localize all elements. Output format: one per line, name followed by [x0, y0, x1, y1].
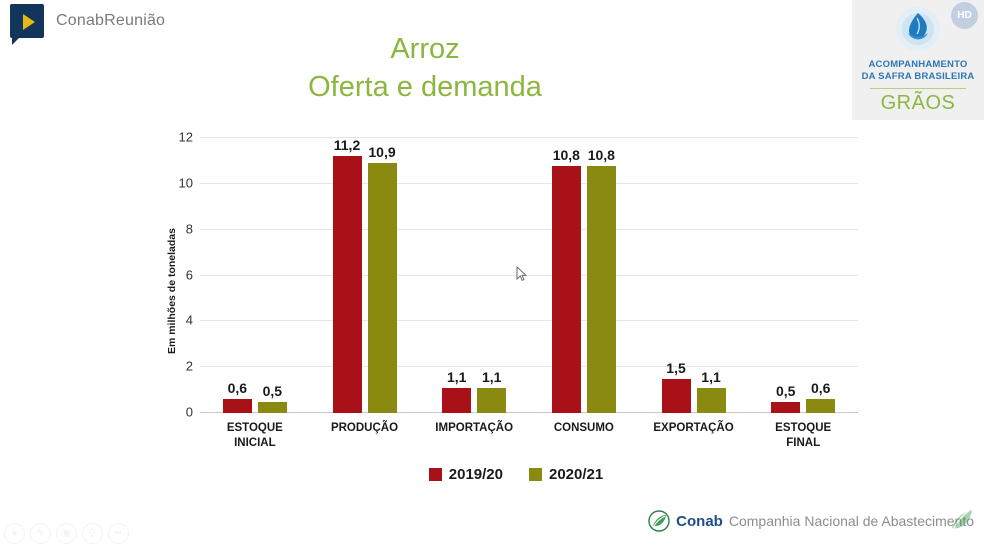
title-line-1: Arroz [0, 30, 850, 68]
logo-subtitle: GRÃOS [852, 92, 984, 115]
player-controls[interactable]: ●✎▣⚲•• [4, 523, 129, 544]
y-axis-tick-label: 6 [186, 267, 193, 282]
bar-value-label: 0,6 [228, 380, 247, 396]
bar-value-label: 0,5 [263, 383, 282, 399]
conab-leaf-drop-icon [895, 6, 941, 52]
slide-canvas: ConabReunião Arroz Oferta e demanda ACOM… [0, 0, 984, 546]
y-axis-tick-label: 4 [186, 313, 193, 328]
bar[interactable] [771, 402, 800, 413]
bar-column[interactable]: 10,8 [587, 138, 616, 413]
app-name-label: ConabReunião [56, 12, 165, 30]
bar-column[interactable]: 10,8 [552, 138, 581, 413]
slide-title: Arroz Oferta e demanda [0, 30, 850, 106]
bar[interactable] [223, 399, 252, 413]
bar[interactable] [662, 379, 691, 413]
y-axis-tick-label: 8 [186, 221, 193, 236]
logo-line-2: DA SAFRA BRASILEIRA [852, 71, 984, 83]
x-axis-category-label: ESTOQUEINICIAL [227, 421, 283, 451]
bar-column[interactable]: 11,2 [333, 138, 362, 413]
bar-group: 1,11,1IMPORTAÇÃO [419, 138, 529, 413]
bar-group: 11,210,9PRODUÇÃO [310, 138, 420, 413]
search-icon[interactable]: ⚲ [82, 523, 103, 544]
bar-value-label: 10,9 [368, 144, 395, 160]
y-axis-tick-label: 12 [179, 130, 193, 145]
y-axis-tick-label: 0 [186, 405, 193, 420]
bar-column[interactable]: 0,6 [223, 138, 252, 413]
footer-full-name: Companhia Nacional de Abastecimento [729, 513, 974, 529]
x-axis-category-label: IMPORTAÇÃO [435, 421, 513, 436]
x-axis-category-label: CONSUMO [554, 421, 614, 436]
bar-column[interactable]: 1,1 [477, 138, 506, 413]
legend-item[interactable]: 2019/20 [429, 466, 503, 483]
more-icon[interactable]: •• [108, 523, 129, 544]
bar-value-label: 0,5 [776, 383, 795, 399]
mouse-pointer-icon [516, 266, 528, 282]
camera-icon[interactable]: ▣ [56, 523, 77, 544]
bar[interactable] [333, 156, 362, 413]
plot-area: 024681012 0,60,5ESTOQUEINICIAL11,210,9PR… [200, 138, 858, 413]
bar-group: 1,51,1EXPORTAÇÃO [639, 138, 749, 413]
bar[interactable] [477, 388, 506, 413]
legend-swatch [429, 468, 442, 481]
logo-divider [870, 88, 966, 89]
mic-icon[interactable]: ● [4, 523, 25, 544]
title-line-2: Oferta e demanda [0, 68, 850, 106]
chart-legend: 2019/202020/21 [166, 466, 866, 483]
y-axis-tick-label: 10 [179, 175, 193, 190]
pen-icon[interactable]: ✎ [30, 523, 51, 544]
hd-quality-badge[interactable]: HD [951, 2, 978, 29]
bar-value-label: 1,5 [666, 360, 685, 376]
bar-value-label: 0,6 [811, 380, 830, 396]
bar-column[interactable]: 10,9 [368, 138, 397, 413]
bar-group: 0,60,5ESTOQUEINICIAL [200, 138, 310, 413]
footer-brand: Conab [676, 513, 723, 530]
logo-line-1: ACOMPANHAMENTO [852, 59, 984, 71]
x-axis-category-label: PRODUÇÃO [331, 421, 398, 436]
conab-footer: Conab Companhia Nacional de Abasteciment… [648, 510, 974, 532]
bar-groups: 0,60,5ESTOQUEINICIAL11,210,9PRODUÇÃO1,11… [200, 138, 858, 413]
bar[interactable] [368, 163, 397, 413]
bar[interactable] [587, 166, 616, 414]
conab-leaf-icon [648, 510, 670, 532]
legend-label: 2019/20 [449, 466, 503, 483]
bar-column[interactable]: 1,1 [442, 138, 471, 413]
y-axis-title: Em milhões de toneladas [166, 228, 182, 354]
bar[interactable] [697, 388, 726, 413]
bar-value-label: 11,2 [334, 137, 360, 153]
bar-group: 0,50,6ESTOQUEFINAL [748, 138, 858, 413]
bar-column[interactable]: 0,6 [806, 138, 835, 413]
legend-item[interactable]: 2020/21 [529, 466, 603, 483]
play-triangle-icon [23, 14, 35, 30]
bar-column[interactable]: 1,1 [697, 138, 726, 413]
bar[interactable] [806, 399, 835, 413]
y-axis-tick-label: 2 [186, 359, 193, 374]
bar-group: 10,810,8CONSUMO [529, 138, 639, 413]
legend-swatch [529, 468, 542, 481]
bar-chart: Em milhões de toneladas 024681012 0,60,5… [166, 128, 866, 458]
bar-value-label: 10,8 [588, 147, 615, 163]
bar[interactable] [258, 402, 287, 413]
legend-label: 2020/21 [549, 466, 603, 483]
bar[interactable] [442, 388, 471, 413]
bar-column[interactable]: 0,5 [258, 138, 287, 413]
x-axis-category-label: ESTOQUEFINAL [775, 421, 831, 451]
bar[interactable] [552, 166, 581, 414]
bar-column[interactable]: 0,5 [771, 138, 800, 413]
bar-value-label: 10,8 [553, 147, 580, 163]
bar-value-label: 1,1 [447, 369, 466, 385]
conab-watermark-icon [946, 504, 976, 534]
bar-value-label: 1,1 [701, 369, 720, 385]
bar-value-label: 1,1 [482, 369, 501, 385]
bar-column[interactable]: 1,5 [662, 138, 691, 413]
x-axis-category-label: EXPORTAÇÃO [653, 421, 733, 436]
